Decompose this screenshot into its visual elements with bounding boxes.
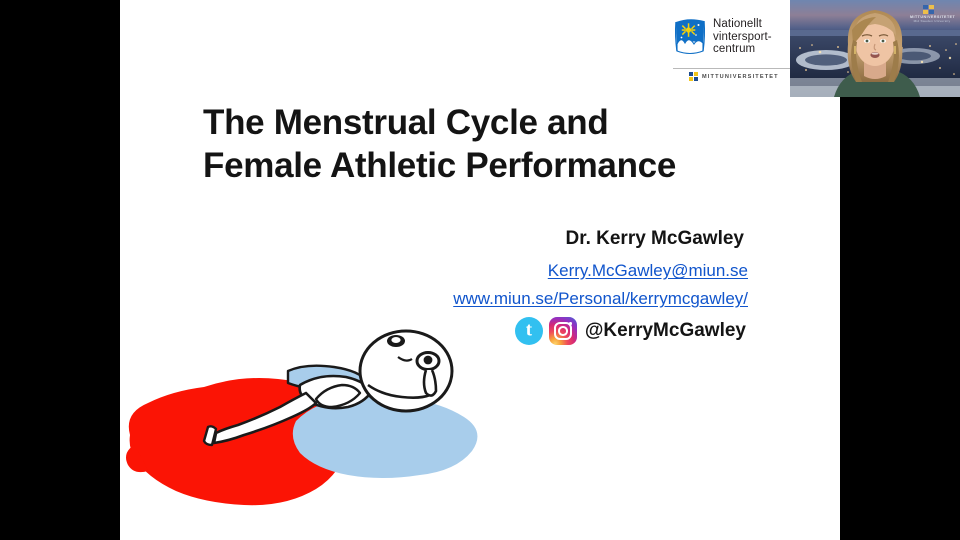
logo-name-line3: centrum <box>713 43 772 56</box>
slide-title: The Menstrual Cycle and Female Athletic … <box>203 101 823 187</box>
university-lockup: MITTUNIVERSITETET <box>689 72 779 81</box>
presenter-video-thumbnail[interactable]: MITTUNIVERSITETET Mid Sweden University <box>790 0 960 97</box>
email-link[interactable]: Kerry.McGawley@miun.se <box>300 257 748 285</box>
mittuniversitetet-mark-icon <box>689 72 698 81</box>
logo-wordmark: Nationellt vintersport- centrum <box>713 18 772 56</box>
mittuniversitetet-mark-icon <box>923 5 934 14</box>
title-line-2: Female Athletic Performance <box>203 144 823 187</box>
website-link[interactable]: www.miun.se/Personal/kerrymcgawley/ <box>300 285 748 313</box>
logo-name-line1: Nationellt <box>713 18 772 31</box>
video-watermark-logo: MITTUNIVERSITETET Mid Sweden University <box>910 5 954 23</box>
nvc-logo: Nationellt vintersport- centrum MITTUNIV… <box>673 8 793 92</box>
winter-flag-icon <box>673 16 707 58</box>
university-name: MITTUNIVERSITETET <box>702 74 779 80</box>
cartoon-figure-lying-in-puddle <box>120 325 520 540</box>
logo-row: Nationellt vintersport- centrum <box>673 8 793 66</box>
presentation-slide: Nationellt vintersport- centrum MITTUNIV… <box>120 0 840 540</box>
instagram-icon[interactable] <box>549 317 577 345</box>
logo-divider <box>673 68 793 69</box>
watermark-line-2: Mid Sweden University <box>910 19 954 23</box>
logo-name-line2: vintersport- <box>713 31 772 44</box>
letterbox-bar-left <box>0 0 120 540</box>
screen-recording-viewport: Nationellt vintersport- centrum MITTUNIV… <box>0 0 960 540</box>
social-handle: @KerryMcGawley <box>585 320 746 342</box>
title-line-1: The Menstrual Cycle and <box>203 101 823 144</box>
presenter-name: Dr. Kerry McGawley <box>300 226 748 252</box>
